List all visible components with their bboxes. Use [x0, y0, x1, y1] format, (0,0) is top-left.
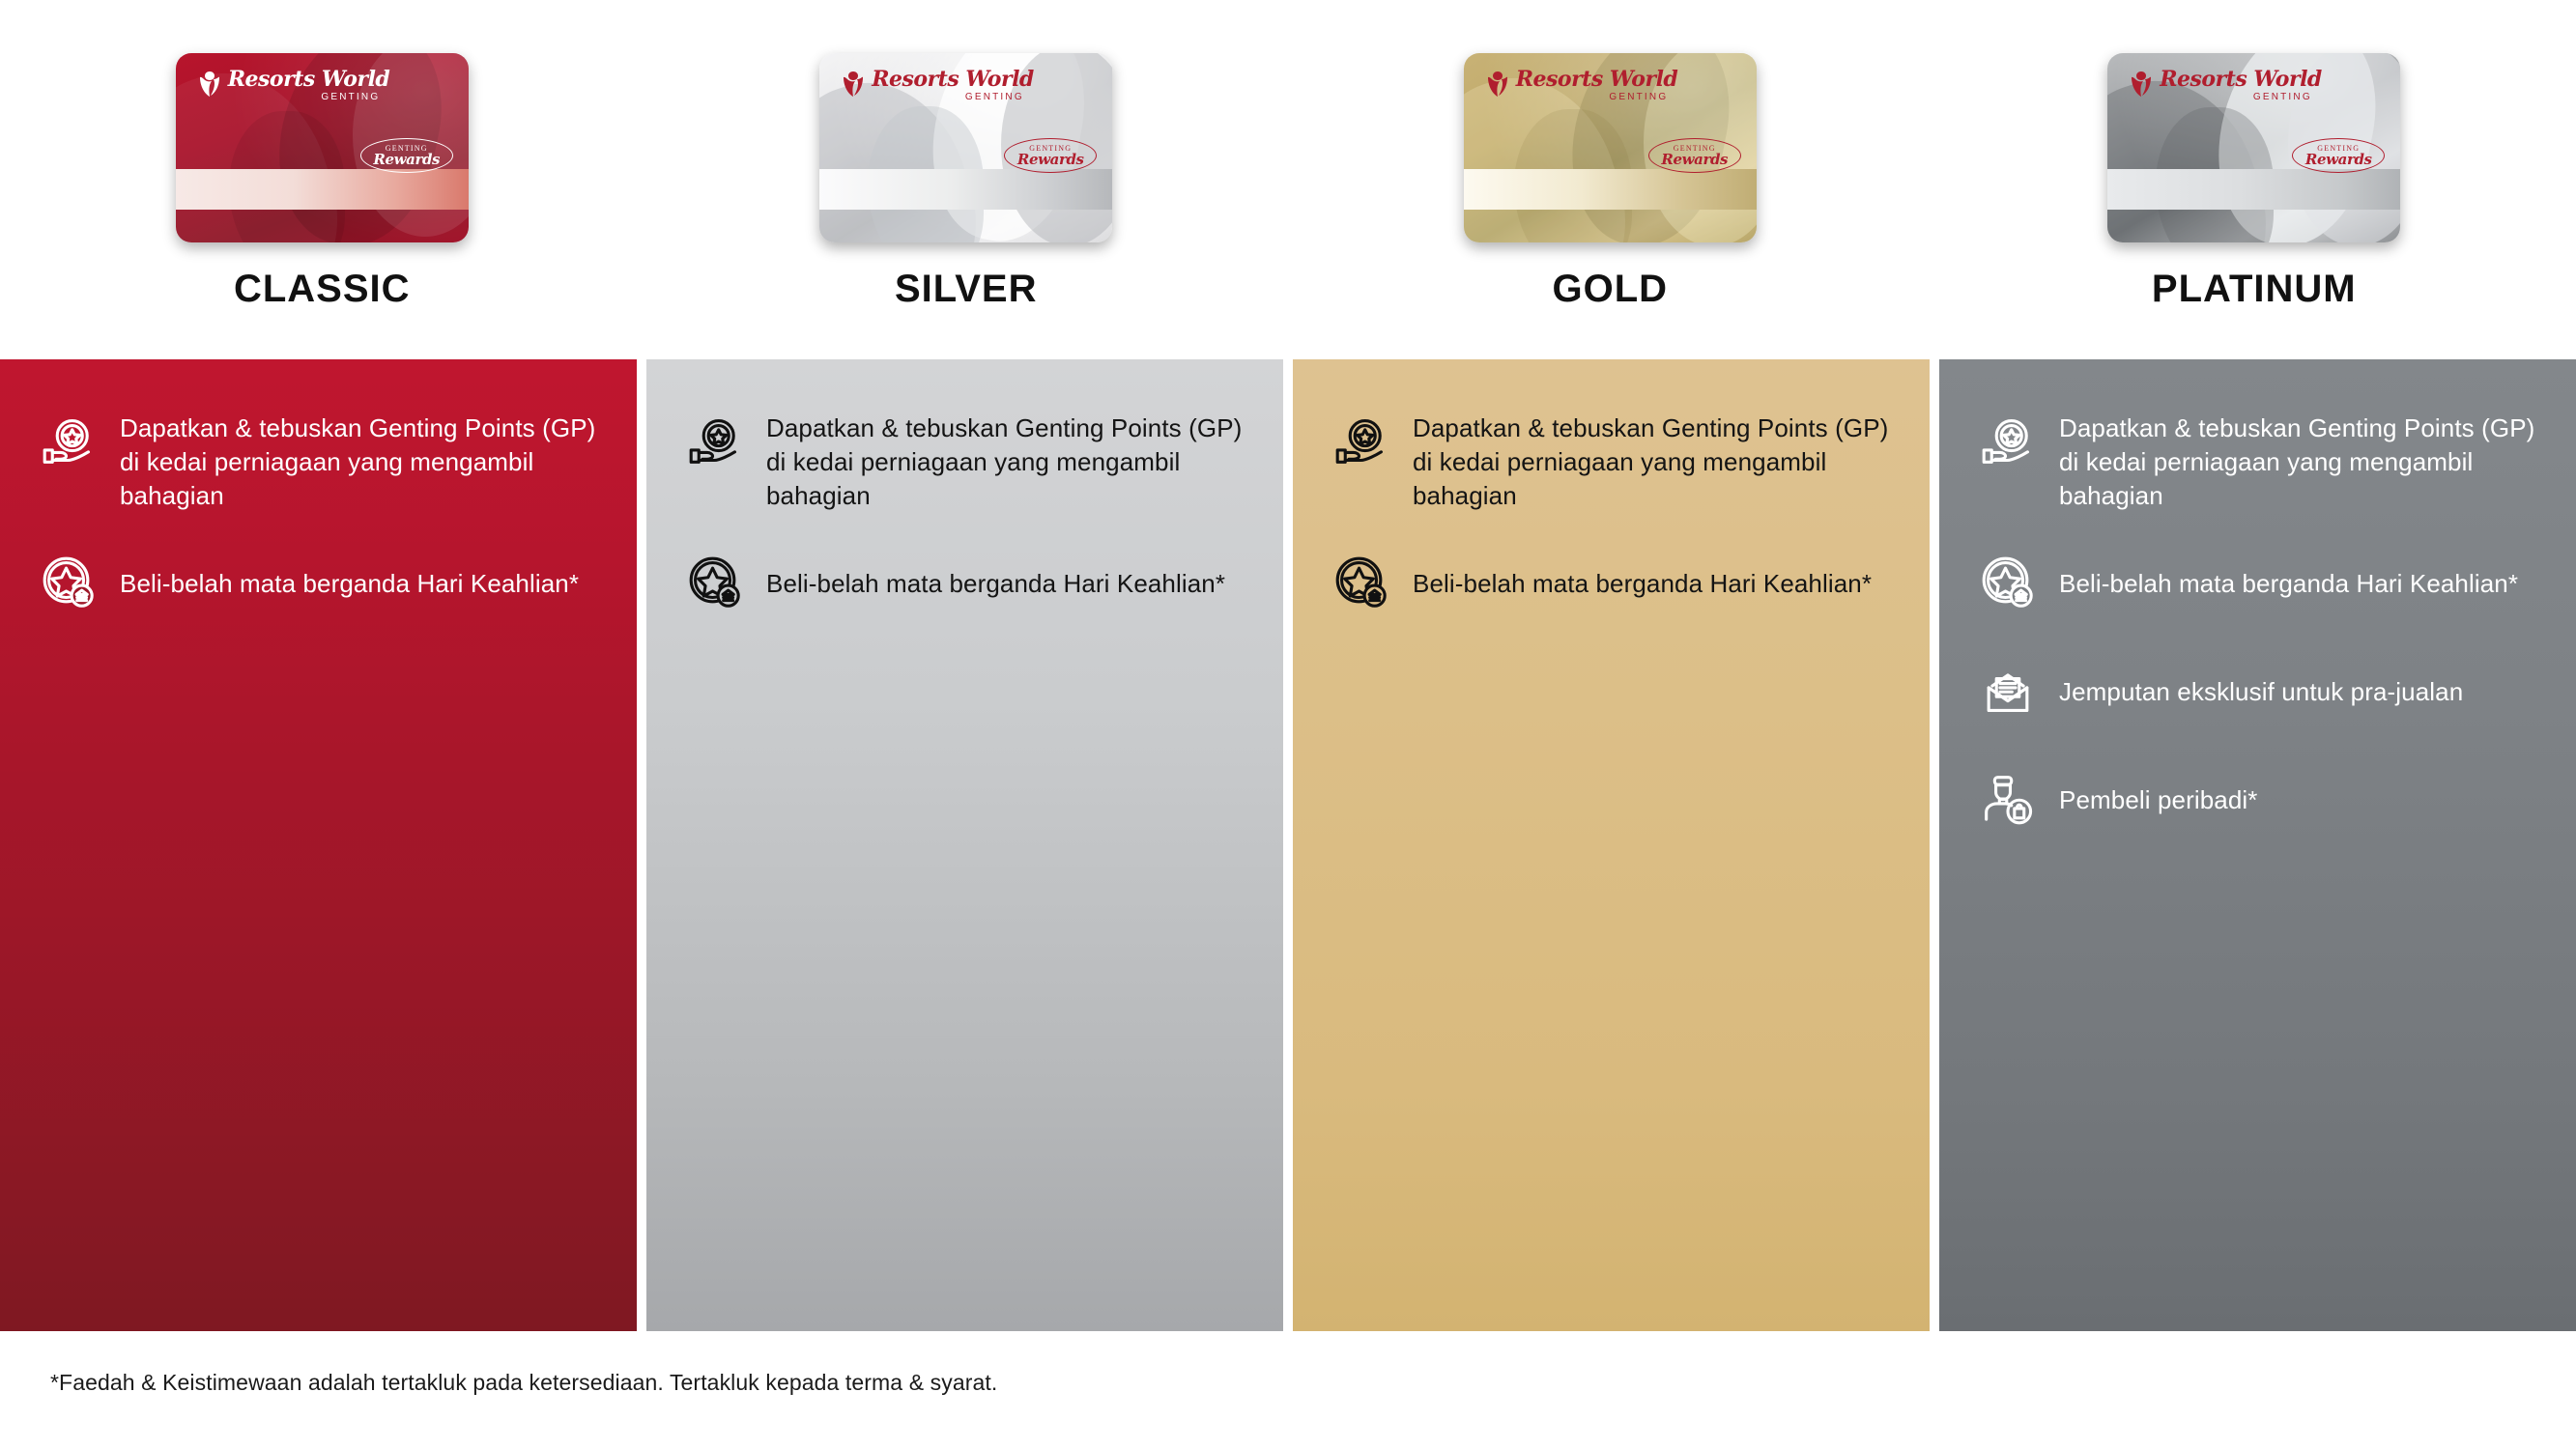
tier-name-silver: SILVER	[895, 268, 1038, 311]
resorts-world-wordmark: Resorts World GENTING	[872, 69, 1034, 102]
tier-header-gold: Resorts World GENTING GENTING Rewards GO…	[1288, 0, 1932, 359]
brand-script-text: Resorts World	[228, 69, 390, 90]
genting-rewards-badge: GENTING Rewards	[1004, 138, 1097, 173]
hand-coin-star-icon	[39, 415, 99, 475]
brand-sub-text: GENTING	[965, 92, 1024, 102]
card-signature-stripe	[1464, 169, 1757, 210]
benefit-text: Beli-belah mata berganda Hari Keahlian*	[120, 565, 579, 601]
star-badge-multiplier-icon	[1331, 553, 1391, 612]
benefits-panel-gold: Dapatkan & tebuskan Genting Points (GP) …	[1293, 359, 1930, 1331]
membership-card-platinum: Resorts World GENTING GENTING Rewards	[2107, 53, 2400, 242]
card-signature-stripe	[176, 169, 469, 210]
benefits-panel-silver: Dapatkan & tebuskan Genting Points (GP) …	[646, 359, 1283, 1331]
footnote-disclaimer: *Faedah & Keistimewaan adalah tertakluk …	[50, 1370, 997, 1396]
benefits-panel-platinum: Dapatkan & tebuskan Genting Points (GP) …	[1939, 359, 2576, 1331]
brand-script-text: Resorts World	[2160, 69, 2322, 90]
open-envelope-invitation-icon	[1978, 661, 2038, 721]
genting-rewards-badge: GENTING Rewards	[1648, 138, 1741, 173]
tier-name-platinum: PLATINUM	[2152, 268, 2357, 311]
brand-sub-text: GENTING	[1609, 92, 1668, 102]
benefits-panel-classic: Dapatkan & tebuskan Genting Points (GP) …	[0, 359, 637, 1331]
card-signature-stripe	[819, 169, 1112, 210]
resorts-world-figure-icon	[2129, 69, 2154, 98]
hand-coin-star-icon	[1978, 415, 2038, 475]
benefit-text: Dapatkan & tebuskan Genting Points (GP) …	[1413, 410, 1891, 513]
benefit-text: Dapatkan & tebuskan Genting Points (GP) …	[2059, 410, 2537, 513]
star-badge-multiplier-icon	[1978, 553, 2038, 612]
resorts-world-logo: Resorts World GENTING	[197, 69, 390, 102]
membership-tier-comparison-page: Resorts World GENTING GENTING Rewards CL…	[0, 0, 2576, 1449]
personal-shopper-icon	[1978, 769, 2038, 829]
benefit-item: Dapatkan & tebuskan Genting Points (GP) …	[1331, 410, 1891, 513]
benefit-item: Beli-belah mata berganda Hari Keahlian*	[1331, 548, 1891, 617]
benefit-item: Jemputan eksklusif untuk pra-jualan	[1978, 656, 2537, 725]
benefit-item: Dapatkan & tebuskan Genting Points (GP) …	[685, 410, 1245, 513]
resorts-world-logo: Resorts World GENTING	[841, 69, 1034, 102]
membership-card-silver: Resorts World GENTING GENTING Rewards	[819, 53, 1112, 242]
resorts-world-logo: Resorts World GENTING	[2129, 69, 2322, 102]
brand-script-text: Resorts World	[872, 69, 1034, 90]
benefit-text: Beli-belah mata berganda Hari Keahlian*	[1413, 565, 1872, 601]
benefit-item: Dapatkan & tebuskan Genting Points (GP) …	[1978, 410, 2537, 513]
membership-card-classic: Resorts World GENTING GENTING Rewards	[176, 53, 469, 242]
star-badge-multiplier-icon	[39, 553, 99, 612]
rewards-badge-main-text: Rewards	[2305, 153, 2372, 167]
benefit-text: Dapatkan & tebuskan Genting Points (GP) …	[120, 410, 598, 513]
benefit-text: Beli-belah mata berganda Hari Keahlian*	[2059, 565, 2518, 601]
tier-card-row: Resorts World GENTING GENTING Rewards CL…	[0, 0, 2576, 359]
tier-header-classic: Resorts World GENTING GENTING Rewards CL…	[0, 0, 644, 359]
benefit-item: Beli-belah mata berganda Hari Keahlian*	[1978, 548, 2537, 617]
card-signature-stripe	[2107, 169, 2400, 210]
benefit-panel-row: Dapatkan & tebuskan Genting Points (GP) …	[0, 359, 2576, 1331]
star-badge-multiplier-icon	[685, 553, 745, 612]
resorts-world-logo: Resorts World GENTING	[1485, 69, 1678, 102]
brand-sub-text: GENTING	[2253, 92, 2312, 102]
tier-header-platinum: Resorts World GENTING GENTING Rewards PL…	[1932, 0, 2576, 359]
benefit-text: Beli-belah mata berganda Hari Keahlian*	[766, 565, 1225, 601]
tier-name-gold: GOLD	[1552, 268, 1668, 311]
hand-coin-star-icon	[685, 415, 745, 475]
genting-rewards-badge: GENTING Rewards	[2292, 138, 2385, 173]
hand-coin-star-icon	[1331, 415, 1391, 475]
resorts-world-figure-icon	[1485, 69, 1510, 98]
benefit-item: Beli-belah mata berganda Hari Keahlian*	[685, 548, 1245, 617]
benefit-item: Beli-belah mata berganda Hari Keahlian*	[39, 548, 598, 617]
tier-header-silver: Resorts World GENTING GENTING Rewards SI…	[644, 0, 1289, 359]
resorts-world-wordmark: Resorts World GENTING	[228, 69, 390, 102]
benefit-text: Jemputan eksklusif untuk pra-jualan	[2059, 673, 2463, 709]
resorts-world-figure-icon	[841, 69, 866, 98]
rewards-badge-main-text: Rewards	[1017, 153, 1084, 167]
benefit-text: Dapatkan & tebuskan Genting Points (GP) …	[766, 410, 1245, 513]
resorts-world-wordmark: Resorts World GENTING	[1516, 69, 1678, 102]
benefit-text: Pembeli peribadi*	[2059, 781, 2258, 817]
benefit-item: Dapatkan & tebuskan Genting Points (GP) …	[39, 410, 598, 513]
rewards-badge-main-text: Rewards	[1661, 153, 1728, 167]
resorts-world-wordmark: Resorts World GENTING	[2160, 69, 2322, 102]
brand-sub-text: GENTING	[321, 92, 380, 102]
tier-name-classic: CLASSIC	[234, 268, 411, 311]
benefit-item: Pembeli peribadi*	[1978, 764, 2537, 834]
brand-script-text: Resorts World	[1516, 69, 1678, 90]
rewards-badge-main-text: Rewards	[373, 153, 440, 167]
membership-card-gold: Resorts World GENTING GENTING Rewards	[1464, 53, 1757, 242]
resorts-world-figure-icon	[197, 69, 222, 98]
genting-rewards-badge: GENTING Rewards	[360, 138, 453, 173]
